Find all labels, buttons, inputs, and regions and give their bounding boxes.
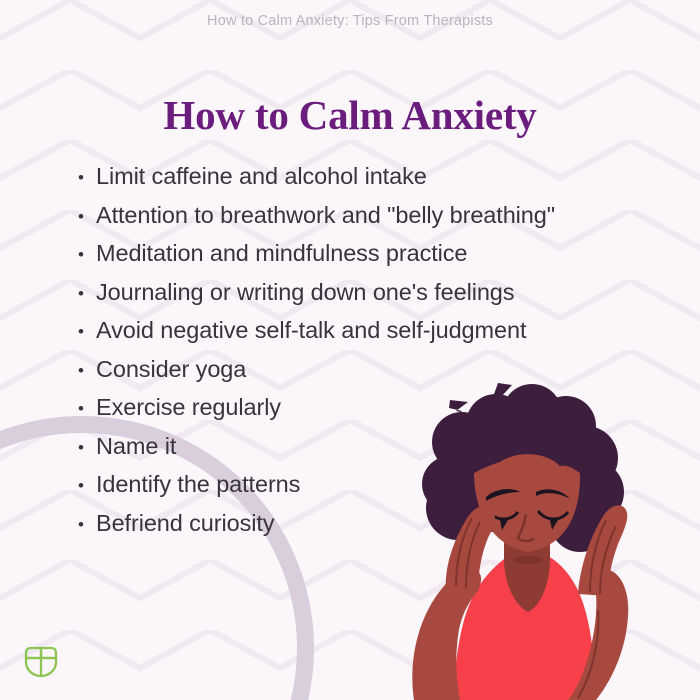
bullet-icon: • — [78, 516, 96, 533]
list-item-label: Avoid negative self-talk and self-judgme… — [96, 317, 526, 344]
bullet-icon: • — [78, 208, 96, 225]
bullet-icon: • — [78, 477, 96, 494]
list-item: • Avoid negative self-talk and self-judg… — [78, 317, 678, 356]
tips-list: • Limit caffeine and alcohol intake • At… — [78, 163, 678, 548]
bullet-icon: • — [78, 362, 96, 379]
page-title: How to Calm Anxiety — [0, 93, 700, 137]
list-item: • Consider yoga — [78, 356, 678, 395]
list-item: • Exercise regularly — [78, 394, 678, 433]
list-item-label: Exercise regularly — [96, 394, 281, 421]
leaf-plant-logo — [18, 636, 64, 682]
bullet-icon: • — [78, 169, 96, 186]
infographic-poster: How to Calm Anxiety: Tips From Therapist… — [0, 0, 700, 700]
bullet-icon: • — [78, 285, 96, 302]
leaf-left — [26, 648, 41, 658]
list-item: • Limit caffeine and alcohol intake — [78, 163, 678, 202]
bullet-icon: • — [78, 400, 96, 417]
list-item-label: Limit caffeine and alcohol intake — [96, 163, 427, 190]
list-item-label: Attention to breathwork and "belly breat… — [96, 202, 555, 229]
header-text: How to Calm Anxiety: Tips From Therapist… — [207, 13, 493, 29]
list-item: • Name it — [78, 433, 678, 472]
bullet-icon: • — [78, 246, 96, 263]
list-item: • Attention to breathwork and "belly bre… — [78, 202, 678, 241]
bullet-icon: • — [78, 439, 96, 456]
list-item: • Befriend curiosity — [78, 510, 678, 549]
list-item-label: Meditation and mindfulness practice — [96, 240, 467, 267]
list-item-label: Identify the patterns — [96, 471, 300, 498]
list-item-label: Consider yoga — [96, 356, 246, 383]
page-header: How to Calm Anxiety: Tips From Therapist… — [0, 12, 700, 30]
list-item: • Identify the patterns — [78, 471, 678, 510]
list-item-label: Name it — [96, 433, 176, 460]
list-item-label: Journaling or writing down one's feeling… — [96, 279, 514, 306]
leaf-right — [41, 648, 56, 658]
list-item: • Journaling or writing down one's feeli… — [78, 279, 678, 318]
list-item-label: Befriend curiosity — [96, 510, 274, 537]
list-item: • Meditation and mindfulness practice — [78, 240, 678, 279]
bullet-icon: • — [78, 323, 96, 340]
